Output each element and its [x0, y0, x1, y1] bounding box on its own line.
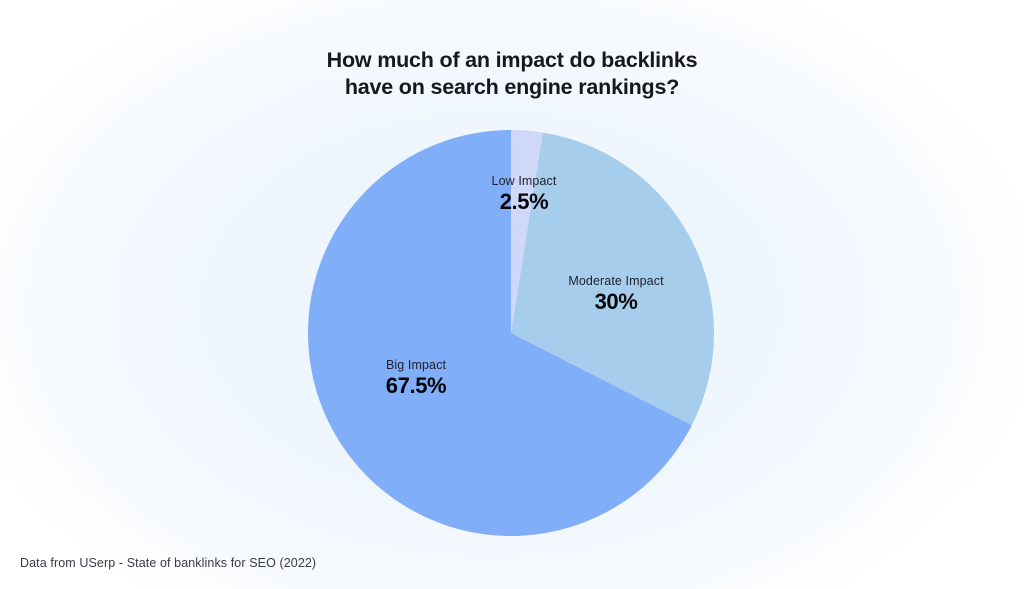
chart-title: How much of an impact do backlinks have …: [0, 47, 1024, 101]
pie-label-low-impact-category: Low Impact: [492, 173, 557, 189]
pie-label-big-impact-category: Big Impact: [386, 357, 446, 373]
pie-label-low-impact: Low Impact 2.5%: [492, 173, 557, 215]
pie-label-moderate-impact-value: 30%: [568, 289, 663, 315]
source-note: Data from USerp - State of banklinks for…: [20, 555, 316, 572]
pie-label-moderate-impact: Moderate Impact 30%: [568, 273, 663, 315]
pie-label-low-impact-value: 2.5%: [492, 189, 557, 215]
pie-label-moderate-impact-category: Moderate Impact: [568, 273, 663, 289]
pie-label-big-impact-value: 67.5%: [386, 373, 446, 399]
pie-chart-card: How much of an impact do backlinks have …: [0, 0, 1024, 589]
pie-label-big-impact: Big Impact 67.5%: [386, 357, 446, 399]
